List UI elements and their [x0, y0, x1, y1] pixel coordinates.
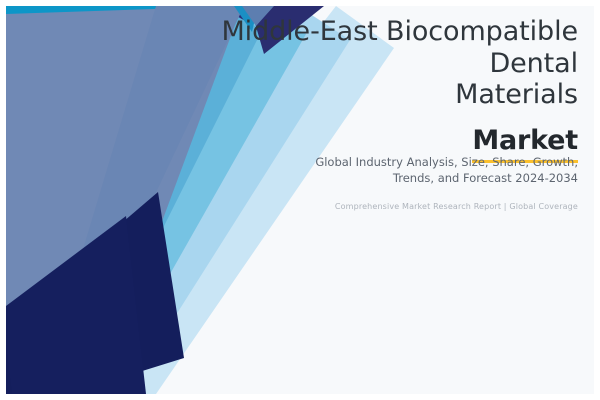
decorative-polygon-artwork [6, 6, 594, 394]
report-cover-canvas: Middle-East Biocompatible Dental Materia… [0, 0, 600, 400]
cover-inner-frame: Middle-East Biocompatible Dental Materia… [6, 6, 594, 394]
